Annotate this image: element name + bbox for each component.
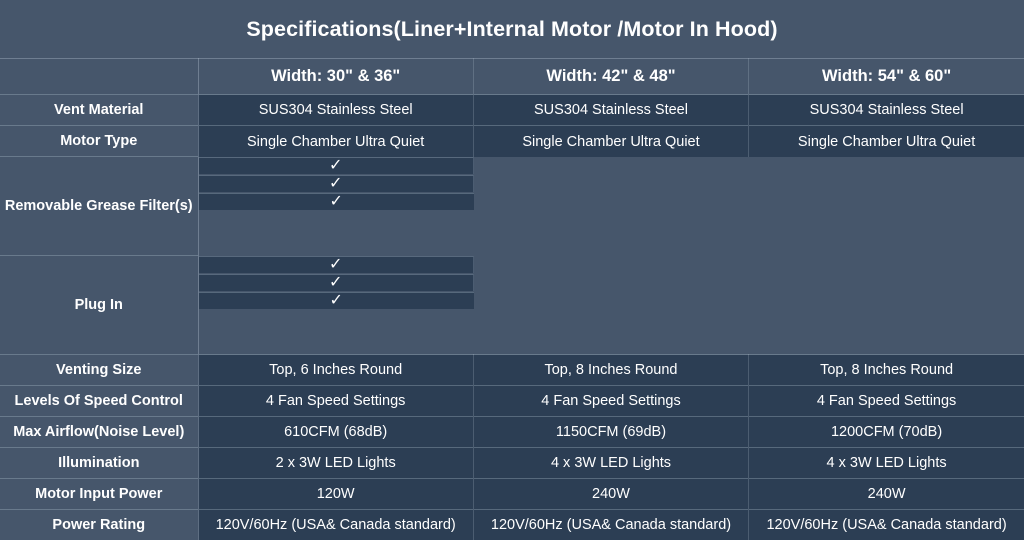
checkmark-icon-grease-filter-col1: ✓	[199, 157, 474, 174]
cell-max-airflow-col1: 610CFM (68dB)	[198, 417, 473, 448]
header-cell-width-42-48: Width: 42" & 48"	[473, 59, 748, 95]
row-label-motor-input-power: Motor Input Power	[0, 479, 198, 510]
cell-speed-control-col2: 4 Fan Speed Settings	[473, 386, 748, 417]
cell-illumination-col1: 2 x 3W LED Lights	[198, 448, 473, 479]
table-row: Plug In ✓ ✓ ✓	[0, 255, 1024, 354]
row-label-plug-in: Plug In	[0, 255, 198, 354]
cell-vent-material-col1: SUS304 Stainless Steel	[198, 95, 473, 126]
page-title: Specifications(Liner+Internal Motor /Mot…	[246, 17, 777, 42]
checkmark-icon-plug-in-col1: ✓	[199, 256, 474, 273]
cell-motor-type-col1: Single Chamber Ultra Quiet	[198, 126, 473, 157]
checkmark-icon-grease-filter-col2: ✓	[199, 175, 474, 192]
cell-motor-input-power-col1: 120W	[198, 479, 473, 510]
cell-vent-material-col3: SUS304 Stainless Steel	[749, 95, 1024, 126]
cell-power-rating-col3: 120V/60Hz (USA& Canada standard)	[749, 510, 1024, 540]
header-cell-width-30-36: Width: 30" & 36"	[198, 59, 473, 95]
cell-motor-input-power-col3: 240W	[749, 479, 1024, 510]
checkmark-icon-grease-filter-col3: ✓	[199, 193, 474, 210]
checkmark-icon-plug-in-col3: ✓	[199, 292, 474, 309]
cell-venting-size-col2: Top, 8 Inches Round	[473, 355, 748, 386]
table-row: Removable Grease Filter(s) ✓ ✓ ✓	[0, 157, 1024, 255]
cell-speed-control-col3: 4 Fan Speed Settings	[749, 386, 1024, 417]
specifications-table: Width: 30" & 36" Width: 42" & 48" Width:…	[0, 58, 1024, 540]
cell-power-rating-col1: 120V/60Hz (USA& Canada standard)	[198, 510, 473, 540]
row-label-removable-grease-filters: Removable Grease Filter(s)	[0, 157, 198, 255]
checkmark-icon-plug-in-col2: ✓	[199, 274, 474, 291]
cell-power-rating-col2: 120V/60Hz (USA& Canada standard)	[473, 510, 748, 540]
table-row: Illumination 2 x 3W LED Lights 4 x 3W LE…	[0, 448, 1024, 479]
row-label-illumination: Illumination	[0, 448, 198, 479]
table-row: Power Rating 120V/60Hz (USA& Canada stan…	[0, 510, 1024, 540]
table-row: Levels Of Speed Control 4 Fan Speed Sett…	[0, 386, 1024, 417]
table-row: Motor Input Power 120W 240W 240W	[0, 479, 1024, 510]
cell-venting-size-col1: Top, 6 Inches Round	[198, 355, 473, 386]
row-label-max-airflow: Max Airflow(Noise Level)	[0, 417, 198, 448]
row-label-motor-type: Motor Type	[0, 126, 198, 157]
cell-max-airflow-col3: 1200CFM (70dB)	[749, 417, 1024, 448]
cell-illumination-col2: 4 x 3W LED Lights	[473, 448, 748, 479]
row-label-power-rating: Power Rating	[0, 510, 198, 540]
cell-max-airflow-col2: 1150CFM (69dB)	[473, 417, 748, 448]
cell-motor-type-col3: Single Chamber Ultra Quiet	[749, 126, 1024, 157]
table-row: Vent Material SUS304 Stainless Steel SUS…	[0, 95, 1024, 126]
header-cell-blank	[0, 59, 198, 95]
cell-vent-material-col2: SUS304 Stainless Steel	[473, 95, 748, 126]
specifications-sheet: Specifications(Liner+Internal Motor /Mot…	[0, 0, 1024, 540]
cell-motor-type-col2: Single Chamber Ultra Quiet	[473, 126, 748, 157]
cell-illumination-col3: 4 x 3W LED Lights	[749, 448, 1024, 479]
table-row: Motor Type Single Chamber Ultra Quiet Si…	[0, 126, 1024, 157]
table-row: Venting Size Top, 6 Inches Round Top, 8 …	[0, 355, 1024, 386]
cell-speed-control-col1: 4 Fan Speed Settings	[198, 386, 473, 417]
cell-motor-input-power-col2: 240W	[473, 479, 748, 510]
title-band: Specifications(Liner+Internal Motor /Mot…	[0, 0, 1024, 58]
cell-venting-size-col3: Top, 8 Inches Round	[749, 355, 1024, 386]
header-cell-width-54-60: Width: 54" & 60"	[749, 59, 1024, 95]
row-label-levels-of-speed-control: Levels Of Speed Control	[0, 386, 198, 417]
table-header-row: Width: 30" & 36" Width: 42" & 48" Width:…	[0, 59, 1024, 95]
row-label-vent-material: Vent Material	[0, 95, 198, 126]
table-row: Max Airflow(Noise Level) 610CFM (68dB) 1…	[0, 417, 1024, 448]
row-label-venting-size: Venting Size	[0, 355, 198, 386]
